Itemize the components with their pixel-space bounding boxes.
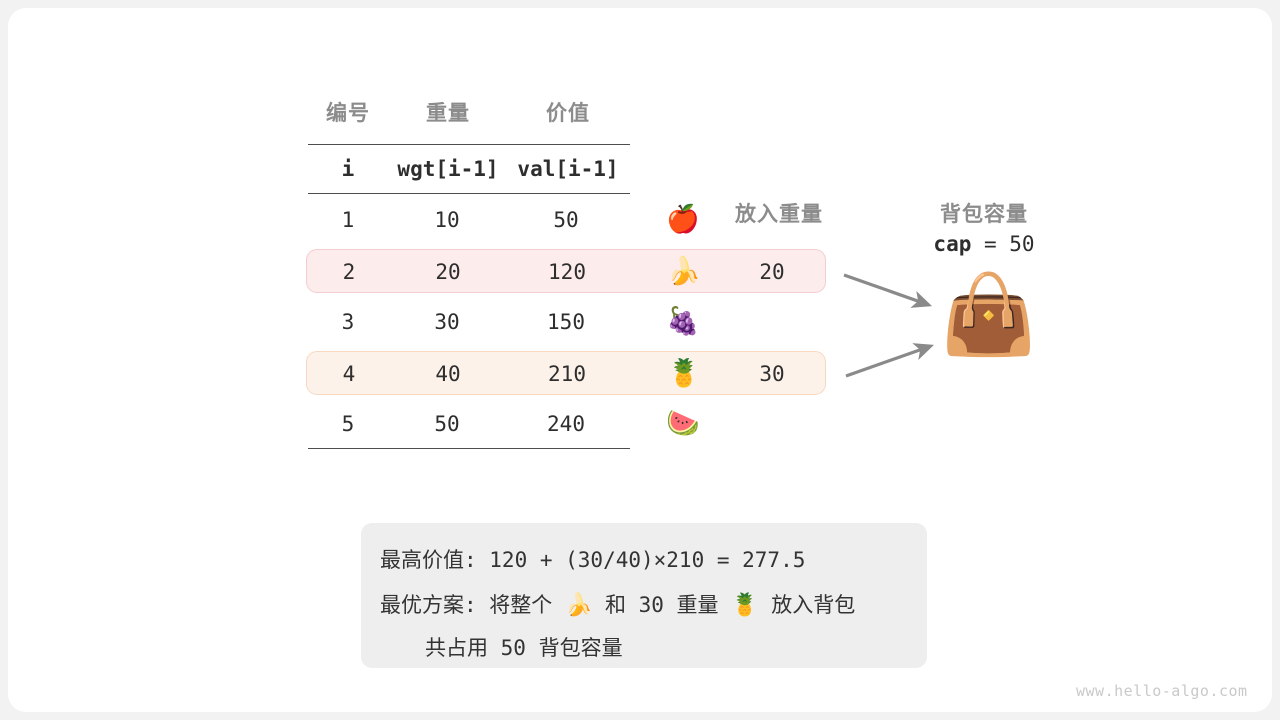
arrow-pineapple-to-bag [846, 346, 931, 376]
capacity-value-line: cap = 50 [904, 232, 1064, 256]
cell-value: 240 [516, 402, 616, 446]
grapes-icon: 🍇 [643, 300, 723, 344]
table-rule-top [308, 144, 630, 145]
page-background: 编号 重量 价值 i wgt[i-1] val[i-1] 1 10 50 🍎 2… [0, 0, 1280, 720]
cell-put-weight [721, 300, 821, 344]
cell-put-weight [721, 402, 821, 446]
column-header-weight: 重量 [398, 93, 498, 133]
cell-put-weight: 20 [722, 250, 822, 294]
table-row-highlighted: 4 40 210 🍍 30 [306, 351, 826, 395]
banana-icon: 🍌 [565, 593, 592, 618]
cell-weight: 20 [398, 250, 498, 294]
summary-box: 最高价值: 120 + (30/40)×210 = 277.5 最优方案: 将整… [361, 523, 927, 668]
subheader-weight: wgt[i-1] [391, 146, 505, 193]
cell-value: 120 [517, 250, 617, 294]
cell-value: 210 [517, 352, 617, 396]
apple-icon: 🍎 [643, 198, 723, 242]
watermelon-icon: 🍉 [643, 402, 723, 446]
table-row-highlighted: 2 20 120 🍌 20 [306, 249, 826, 293]
summary-best-plan: 最优方案: 将整个 🍌 和 30 重量 🍍 放入背包 [380, 589, 855, 619]
table-rule-middle [308, 193, 630, 194]
table-row: 5 50 240 🍉 [306, 402, 826, 446]
summary-total-capacity: 共占用 50 背包容量 [425, 632, 623, 662]
cell-put-weight: 30 [722, 352, 822, 396]
pineapple-icon: 🍍 [644, 352, 724, 396]
arrows-group [828, 258, 958, 398]
cell-weight: 50 [397, 402, 497, 446]
cell-weight: 10 [397, 198, 497, 242]
cell-weight: 40 [398, 352, 498, 396]
cell-id: 5 [298, 402, 398, 446]
summary-max-value: 最高价值: 120 + (30/40)×210 = 277.5 [380, 544, 805, 574]
summary-best-plan-part2: 和 30 重量 [592, 593, 731, 617]
cell-weight: 30 [397, 300, 497, 344]
capacity-var-label: cap [933, 232, 971, 256]
put-weight-header: 放入重量 [719, 198, 839, 228]
table-row: 3 30 150 🍇 [306, 300, 826, 344]
summary-best-plan-part3: 放入背包 [759, 593, 856, 617]
cell-id: 3 [298, 300, 398, 344]
watermark: www.hello-algo.com [1076, 682, 1248, 700]
subheader-id: i [298, 146, 398, 193]
column-header-value: 价值 [518, 93, 618, 133]
summary-best-plan-part1: 最优方案: 将整个 [380, 593, 565, 617]
table-rule-bottom [308, 448, 630, 449]
arrow-banana-to-bag [844, 275, 929, 305]
pineapple-icon: 🍍 [731, 593, 758, 618]
capacity-expr: = 50 [971, 232, 1034, 256]
cell-id: 1 [298, 198, 398, 242]
cell-id: 4 [299, 352, 399, 396]
subheader-value: val[i-1] [508, 146, 628, 193]
banana-icon: 🍌 [644, 250, 724, 294]
capacity-title: 背包容量 [904, 198, 1064, 228]
column-header-id: 编号 [298, 93, 398, 133]
cell-value: 50 [516, 198, 616, 242]
cell-id: 2 [299, 250, 399, 294]
diagram-card: 编号 重量 价值 i wgt[i-1] val[i-1] 1 10 50 🍎 2… [8, 8, 1272, 712]
cell-value: 150 [516, 300, 616, 344]
